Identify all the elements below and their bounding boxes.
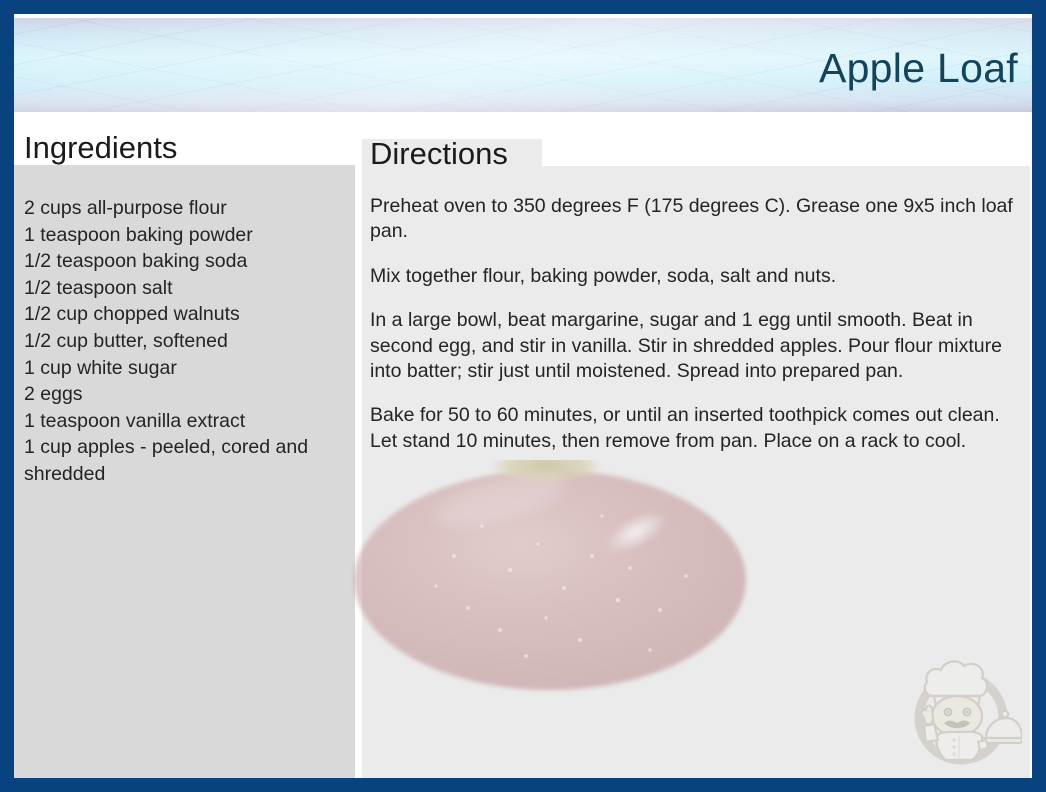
directions-list: Preheat oven to 350 degrees F (175 degre… <box>370 194 1025 454</box>
ingredient-item: 2 eggs <box>24 381 354 408</box>
ingredients-heading: Ingredients <box>24 130 177 166</box>
ingredient-item: 1 cup white sugar <box>24 355 354 382</box>
direction-step: Mix together flour, baking powder, soda,… <box>370 264 1025 289</box>
ingredient-item: 1 cup apples - peeled, cored and shredde… <box>24 434 354 487</box>
ingredient-item: 1/2 cup chopped walnuts <box>24 301 354 328</box>
ingredients-list: 2 cups all-purpose flour1 teaspoon bakin… <box>24 195 354 488</box>
direction-step: Bake for 50 to 60 minutes, or until an i… <box>370 403 1025 454</box>
ingredient-item: 1/2 teaspoon salt <box>24 275 354 302</box>
ingredient-item: 1/2 cup butter, softened <box>24 328 354 355</box>
directions-heading: Directions <box>370 136 508 172</box>
ingredient-item: 1 teaspoon baking powder <box>24 222 354 249</box>
header-banner: Apple Loaf <box>14 18 1032 112</box>
ingredient-item: 2 cups all-purpose flour <box>24 195 354 222</box>
direction-step: Preheat oven to 350 degrees F (175 degre… <box>370 194 1025 245</box>
recipe-card: Apple Loaf Ingredients 2 cups all-purpos… <box>14 14 1032 778</box>
ingredient-item: 1/2 teaspoon baking soda <box>24 248 354 275</box>
ingredient-item: 1 teaspoon vanilla extract <box>24 408 354 435</box>
page-title: Apple Loaf <box>819 45 1018 92</box>
direction-step: In a large bowl, beat margarine, sugar a… <box>370 308 1025 384</box>
